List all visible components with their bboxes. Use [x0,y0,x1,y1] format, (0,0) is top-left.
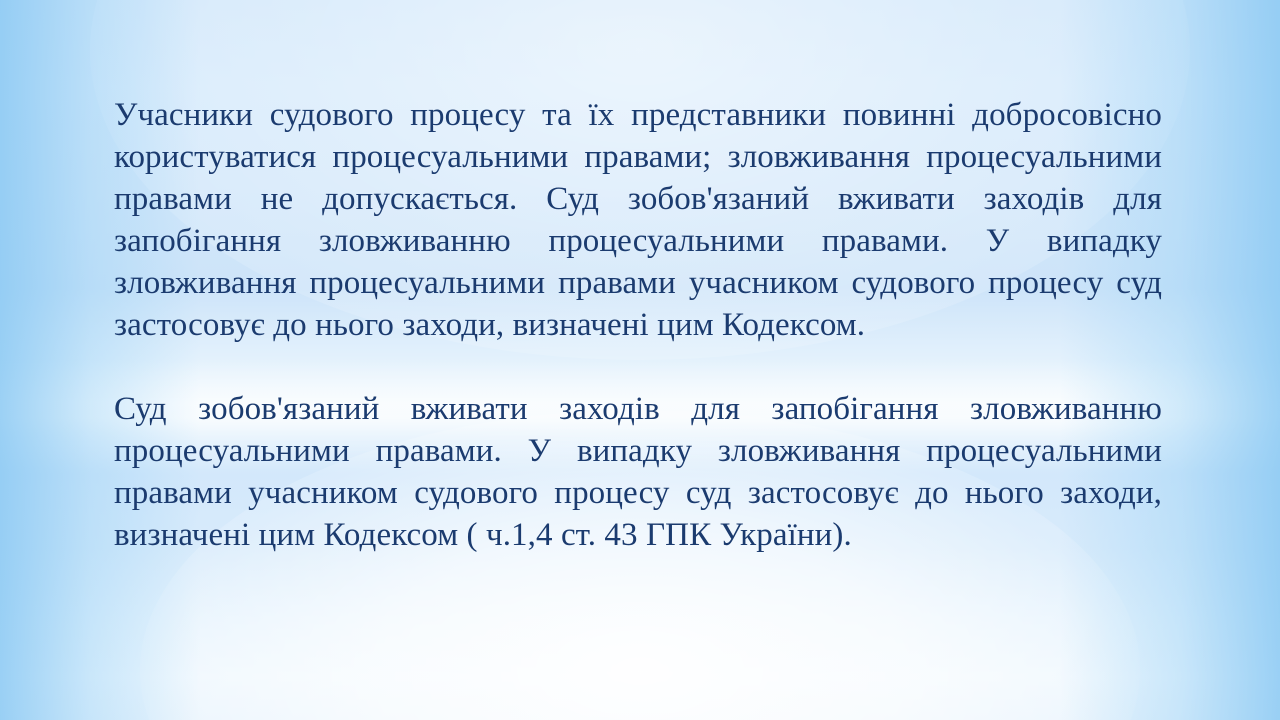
slide-canvas: Учасники судового процесу та їх представ… [0,0,1280,720]
slide-body-text: Учасники судового процесу та їх представ… [114,94,1162,556]
body-paragraph-1: Учасники судового процесу та їх представ… [114,94,1162,346]
body-paragraph-2: Суд зобов'язаний вживати заходів для зап… [114,388,1162,556]
